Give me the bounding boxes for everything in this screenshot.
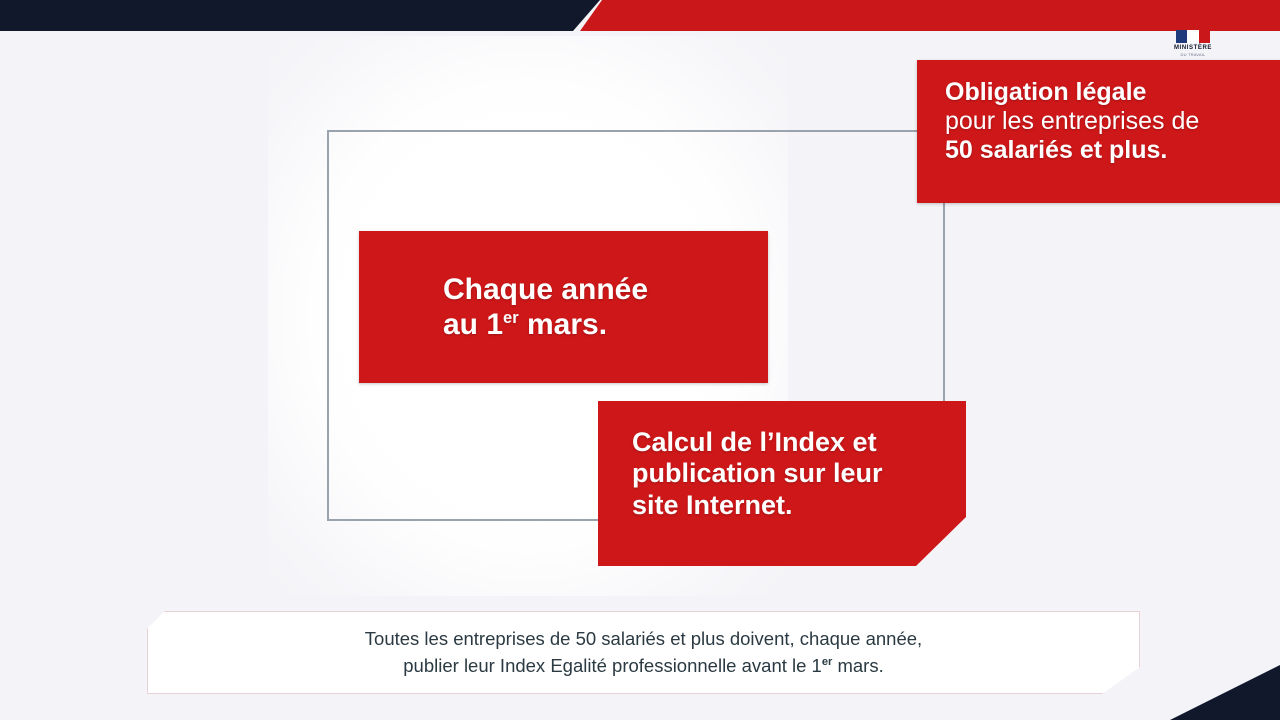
caption-line-2-pre: publier leur Index Egalité professionnel… [403,655,822,676]
logo-line-1: MINISTÈRE [1160,45,1226,52]
callout-calcul-index: Calcul de l’Index et publication sur leu… [598,401,966,566]
callout-obligation-line-2: pour les entreprises de [945,107,1280,136]
top-banner [0,0,1280,32]
french-flag-icon [1176,30,1210,43]
ministry-logo: MINISTÈRE DU TRAVAIL [1160,30,1226,64]
callout-calcul-line-1: Calcul de l’Index et [632,427,966,458]
callout-chaque-annee: Chaque année au 1er mars. [359,231,768,383]
logo-line-2: DU TRAVAIL [1160,52,1226,57]
callout-chaque-line-1: Chaque année [443,273,768,308]
callout-calcul-line-3: site Internet. [632,490,966,521]
banner-red-slab [580,0,1280,31]
banner-navy-slab [0,0,600,31]
caption-ordinal-suffix: er [822,655,833,667]
callout-obligation-line-1: Obligation légale [945,78,1280,107]
callout-chaque-line-2-post: mars. [519,308,607,341]
caption-strip: Toutes les entreprises de 50 salariés et… [147,611,1140,694]
callout-chaque-ordinal-suffix: er [503,309,519,327]
callout-chaque-line-2-pre: au 1 [443,308,503,341]
caption-line-1: Toutes les entreprises de 50 salariés et… [365,626,922,653]
slide-stage: MINISTÈRE DU TRAVAIL Obligation légale p… [0,0,1280,720]
corner-navy-wedge [1170,665,1280,720]
callout-calcul-line-2: publication sur leur [632,458,966,489]
callout-chaque-line-2: au 1er mars. [443,308,768,343]
caption-line-2: publier leur Index Egalité professionnel… [403,653,883,680]
callout-obligation-line-3: 50 salariés et plus. [945,136,1280,165]
callout-obligation-legale: Obligation légale pour les entreprises d… [917,60,1280,203]
caption-line-2-post: mars. [832,655,883,676]
